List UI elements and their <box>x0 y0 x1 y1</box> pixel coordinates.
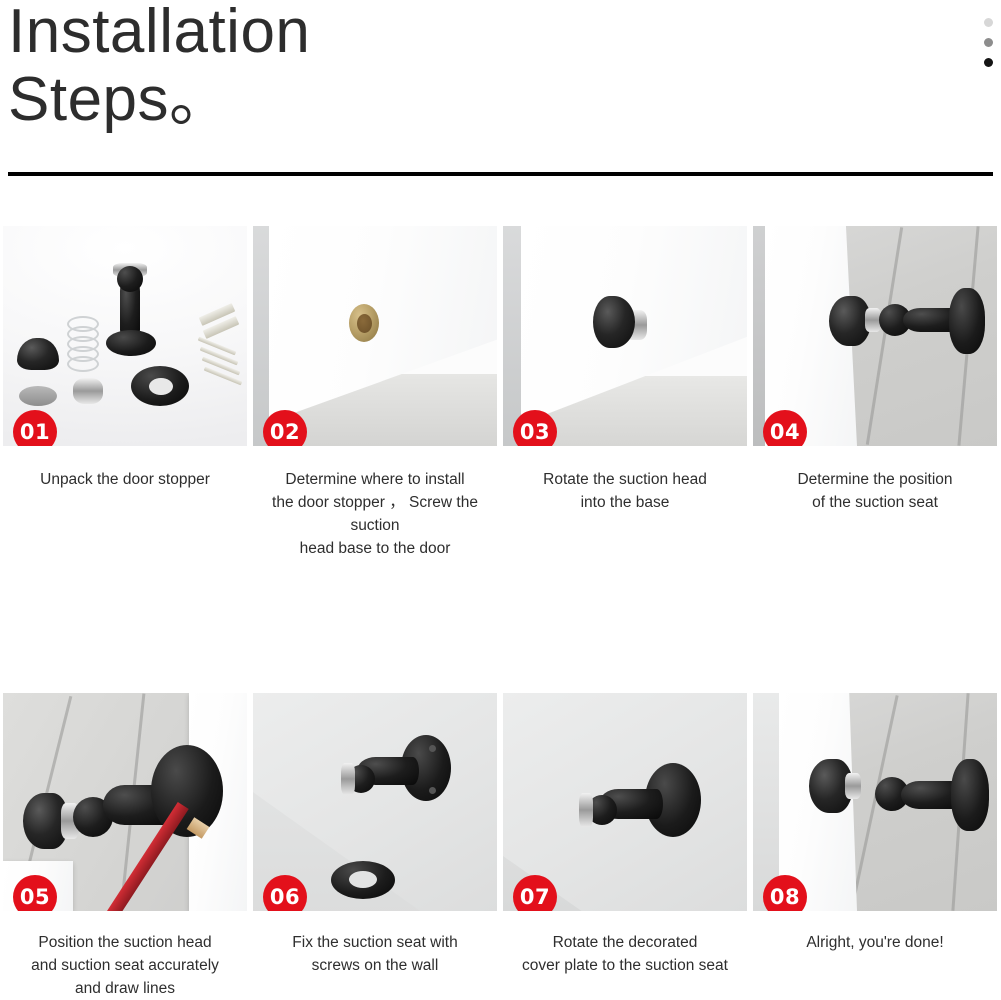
step-photo-06: 06 <box>253 693 497 911</box>
step-number-badge: 04 <box>763 410 807 446</box>
seat-screw-2 <box>429 787 436 794</box>
step-card-01[interactable]: 01 Unpack the door stopper <box>0 226 250 560</box>
suction-seat-collar <box>579 793 593 827</box>
suction-seat-base <box>949 288 985 354</box>
step-card-05[interactable]: 05 Position the suction head and suction… <box>0 693 250 1000</box>
step-card-06[interactable]: 06 Fix the suction seat with screws on t… <box>250 693 500 1000</box>
step-photo-08: 08 <box>753 693 997 911</box>
suction-head <box>593 296 635 348</box>
page-indicator-dots[interactable] <box>981 18 995 67</box>
step-photo-07: 07 <box>503 693 747 911</box>
step-caption: Determine where to install the door stop… <box>253 468 497 560</box>
step-photo-02: 02 <box>253 226 497 446</box>
cover-ring-hole <box>149 378 173 395</box>
step-number-badge: 03 <box>513 410 557 446</box>
step-caption: Determine the position of the suction se… <box>753 468 997 514</box>
metal-disc-part <box>19 386 57 406</box>
step-row-1: 01 Unpack the door stopper 02 Determine … <box>0 226 1001 560</box>
step-card-03[interactable]: 03 Rotate the suction head into the base <box>500 226 750 560</box>
cover-ring-hole <box>349 871 377 888</box>
step-caption: Rotate the suction head into the base <box>503 468 747 514</box>
chrome-nut-part <box>73 378 103 404</box>
step-number-badge: 05 <box>13 875 57 911</box>
step-photo-03: 03 <box>503 226 747 446</box>
step-photo-04: 04 <box>753 226 997 446</box>
step-card-02[interactable]: 02 Determine where to install the door s… <box>250 226 500 560</box>
door-left-edge <box>503 226 521 446</box>
page-header: Installation Steps。 <box>0 0 1001 186</box>
page-dot-3[interactable] <box>984 58 993 67</box>
door-left-edge <box>753 226 765 446</box>
step-number-badge: 01 <box>13 410 57 446</box>
step-card-08[interactable]: 08 Alright, you're done! <box>750 693 1000 1000</box>
step-number-badge: 07 <box>513 875 557 911</box>
step-caption: Alright, you're done! <box>753 931 997 954</box>
step-number-badge: 06 <box>263 875 307 911</box>
page-dot-1[interactable] <box>984 18 993 27</box>
step-caption: Fix the suction seat with screws on the … <box>253 931 497 977</box>
installation-steps-grid: 01 Unpack the door stopper 02 Determine … <box>0 226 1001 1000</box>
step-photo-01: 01 <box>3 226 247 446</box>
step-card-07[interactable]: 07 Rotate the decorated cover plate to t… <box>500 693 750 1000</box>
step-number-badge: 08 <box>763 875 807 911</box>
stopper-ball <box>117 266 143 292</box>
suction-head-base-inner <box>357 314 372 333</box>
stopper-base-plate <box>106 330 156 356</box>
step-photo-05: 05 <box>3 693 247 911</box>
step-card-04[interactable]: 04 Determine the position of the suction… <box>750 226 1000 560</box>
suction-seat-collar <box>341 763 355 795</box>
spring-part <box>67 316 95 372</box>
page-title: Installation Steps。 <box>8 0 828 134</box>
seat-screw-1 <box>429 745 436 752</box>
door-left-edge <box>253 226 269 446</box>
step-caption: Unpack the door stopper <box>3 468 247 491</box>
suction-head-collar <box>845 773 861 799</box>
step-number-badge: 02 <box>263 410 307 446</box>
title-divider <box>8 172 993 176</box>
step-caption: Rotate the decorated cover plate to the … <box>503 931 747 977</box>
step-row-2: 05 Position the suction head and suction… <box>0 693 1001 1000</box>
suction-seat-base <box>951 759 989 831</box>
step-caption: Position the suction head and suction se… <box>3 931 247 1000</box>
page-dot-2[interactable] <box>984 38 993 47</box>
suction-seat-plate <box>151 745 223 837</box>
